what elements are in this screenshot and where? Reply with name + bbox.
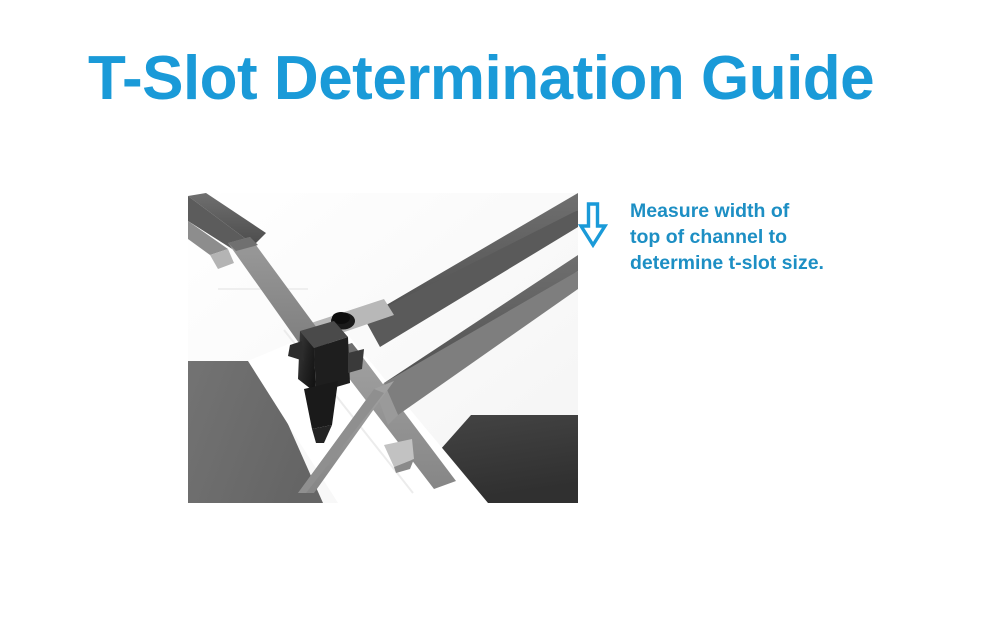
callout: Measure width of top of channel to deter… (578, 198, 878, 290)
arrow-down-icon-glyph (578, 202, 608, 248)
ceiling-grid-tslot-photo (188, 193, 578, 503)
photo-artwork (188, 193, 578, 503)
callout-line-2: top of channel to (630, 224, 880, 250)
callout-line-1: Measure width of (630, 198, 880, 224)
arrow-down-icon (578, 202, 608, 248)
callout-line-3: determine t-slot size. (630, 250, 880, 276)
callout-text: Measure width of top of channel to deter… (630, 198, 880, 276)
page-title: T-Slot Determination Guide (88, 44, 888, 114)
